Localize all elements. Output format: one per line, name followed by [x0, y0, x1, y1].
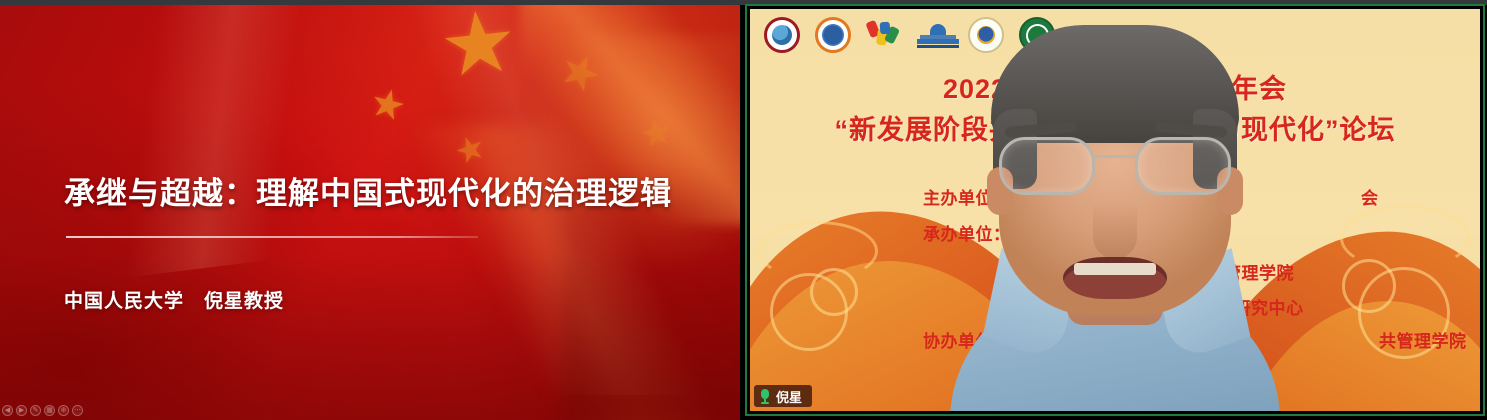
banner-organizer-row: 协办单位： 共管理学院: [923, 327, 1011, 352]
speaker-ear-right: [1217, 167, 1243, 215]
speaker-teeth: [1074, 263, 1156, 275]
flag-star-icon: ★: [637, 112, 676, 154]
banner-title-line-2: “新发展阶段共同富裕与治理能力现代化”论坛: [750, 108, 1480, 147]
banner-organizer-label: 承办单位：: [923, 225, 1011, 244]
slide-author: 中国人民大学 倪星教授: [64, 286, 284, 313]
slide-title: 承继与超越：理解中国式现代化的治理逻辑: [64, 168, 704, 213]
banner-organizer-label: 协办单位：: [923, 332, 1011, 351]
banner-cloud-decoration: [810, 268, 858, 316]
guangdong-social-science-association-logo: [764, 17, 800, 53]
flag-star-icon: ★: [436, 5, 522, 91]
gold-circular-seal-logo: [968, 17, 1004, 53]
all-slides-button[interactable]: ▦: [44, 405, 55, 416]
participant-video-tile[interactable]: 2022广东社会科学学术年会 “新发展阶段共同富裕与治理能力现代化”论坛 主办单…: [745, 4, 1485, 416]
flag-star-icon: ★: [552, 43, 608, 102]
participant-name-badge: 倪星: [754, 385, 812, 407]
video-feed: 2022广东社会科学学术年会 “新发展阶段共同富裕与治理能力现代化”论坛 主办单…: [750, 9, 1480, 411]
banner-organizer-row: 社会组织管理学院: [1154, 259, 1294, 284]
speaker-mouth: [1063, 257, 1167, 299]
speaker-nose: [1093, 201, 1137, 259]
banner-organizer-row: 省社会组织研究中心: [1146, 294, 1304, 319]
flag-star-icon: ★: [366, 81, 410, 128]
flag-shadow: [560, 185, 740, 420]
flag-star-icon: ★: [450, 129, 490, 171]
zoom-slide-button[interactable]: ⊕: [58, 405, 69, 416]
banner-logo-row: [764, 15, 1055, 55]
next-slide-button[interactable]: ▶: [16, 405, 27, 416]
banner-organizer-row: 主办单位： 会: [923, 184, 1011, 209]
slide-title-divider: [66, 236, 478, 238]
globe-emblem-logo: [815, 17, 851, 53]
participant-name: 倪星: [776, 387, 802, 406]
microphone-icon: [760, 389, 770, 404]
presentation-slide[interactable]: ★ ★ ★ ★ ★ 承继与超越：理解中国式现代化的治理逻辑 中国人民大学 倪星教…: [0, 5, 740, 420]
previous-slide-button[interactable]: ◀: [2, 405, 13, 416]
flag-shadow: [0, 255, 740, 420]
eyeglass-bridge: [1094, 155, 1136, 158]
banner-organizer-value: 社会组织管理学院: [1154, 264, 1294, 283]
banner-cloud-decoration: [1340, 205, 1470, 271]
banner-title-line-1: 2022广东社会科学学术年会: [750, 67, 1480, 106]
blue-building-logo: [917, 17, 953, 53]
presenter-toolbar[interactable]: ◀ ▶ ✎ ▦ ⊕ ⋯: [2, 403, 83, 417]
pen-annotation-button[interactable]: ✎: [30, 405, 41, 416]
banner-cloud-decoration: [770, 273, 848, 351]
green-circular-seal-logo: [1019, 17, 1055, 53]
colorful-ribbon-logo: [866, 17, 902, 53]
flag-fold-highlight: [0, 5, 516, 298]
banner-organizer-value: 会: [1361, 184, 1379, 209]
banner-organizer-label: 主办单位：: [923, 189, 1011, 208]
more-options-button[interactable]: ⋯: [72, 405, 83, 416]
screen-root: ★ ★ ★ ★ ★ 承继与超越：理解中国式现代化的治理逻辑 中国人民大学 倪星教…: [0, 0, 1487, 420]
banner-organizer-value: 共管理学院: [1379, 327, 1467, 352]
banner-organizer-row: 承办单位：: [923, 220, 1011, 245]
banner-cloud-decoration: [758, 221, 878, 281]
banner-cloud-decoration: [1342, 259, 1396, 313]
banner-organizer-value: 省社会组织研究中心: [1146, 299, 1304, 318]
